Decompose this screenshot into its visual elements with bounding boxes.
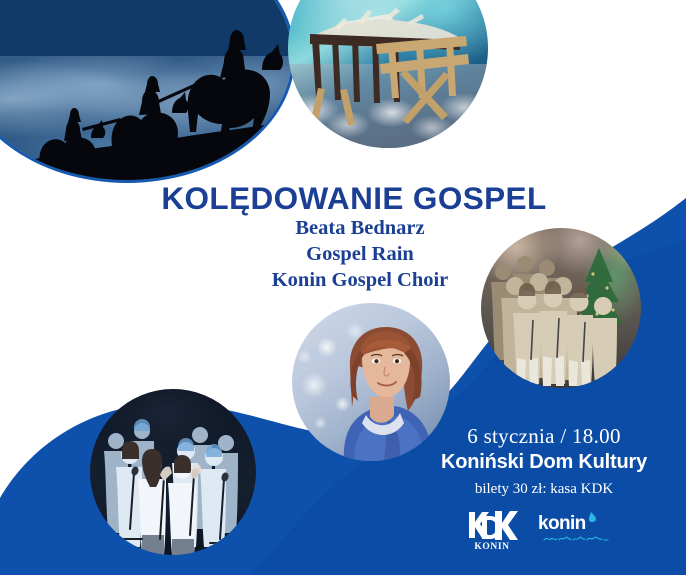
logo-row: KONIN konin — [410, 508, 678, 550]
event-date-time: 6 stycznia / 18.00 — [410, 424, 678, 449]
performer-name: Beata Bednarz — [180, 215, 540, 241]
konin-tagline — [544, 537, 608, 540]
choir-singers-white — [104, 419, 238, 555]
wooden-crib — [310, 8, 469, 126]
event-venue: Koniński Dom Kultury — [410, 449, 678, 475]
performer-name: Konin Gospel Choir — [180, 267, 540, 293]
water-drop-icon — [589, 512, 596, 522]
page-title: KOLĘDOWANIE GOSPEL — [0, 180, 686, 217]
poster-koledowanie-gospel: KOLĘDOWANIE GOSPEL Beata Bednarz Gospel … — [0, 0, 686, 575]
photo-choir-white-outfits — [90, 389, 256, 555]
performer-name: Gospel Rain — [180, 241, 540, 267]
svg-text:konin: konin — [538, 513, 586, 534]
performers-list: Beata Bednarz Gospel Rain Konin Gospel C… — [180, 215, 540, 293]
kdk-logo: KONIN — [466, 508, 518, 550]
kdk-monogram — [469, 511, 518, 540]
ticket-info: bilety 30 zł: kasa KDK — [410, 478, 678, 501]
photo-three-wise-men-on-camels — [0, 0, 292, 180]
kdk-wordmark: KONIN — [474, 542, 509, 550]
konin-city-logo: konin — [536, 510, 622, 548]
photo-nativity-manger — [288, 0, 488, 148]
event-details: 6 stycznia / 18.00 Koniński Dom Kultury … — [410, 424, 678, 500]
camel-caravan-silhouette — [0, 30, 292, 180]
konin-wordmark: konin — [538, 512, 596, 534]
